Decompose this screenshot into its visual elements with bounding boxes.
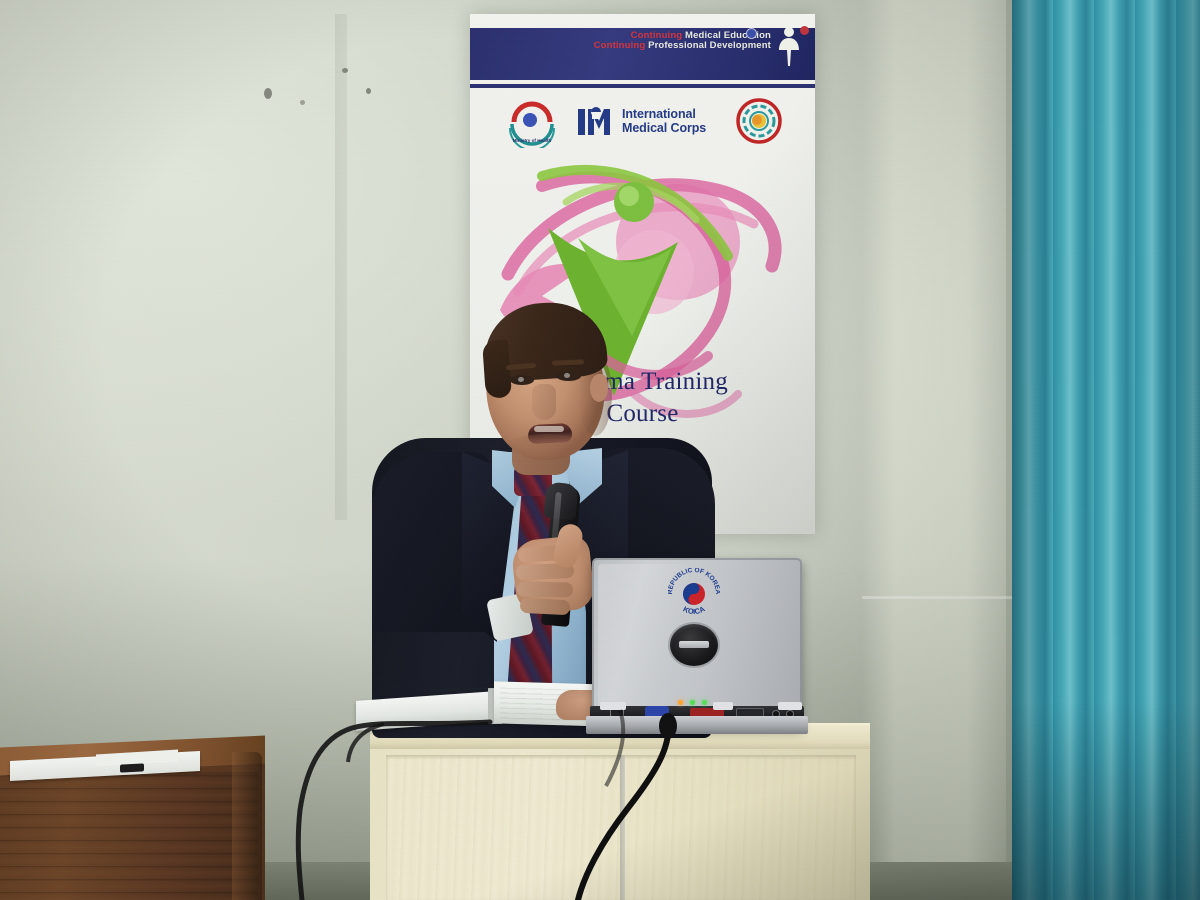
teeth bbox=[534, 426, 564, 432]
photo-scene: Continuing Medical Education Continuing … bbox=[0, 0, 1200, 900]
laptop-latch-bar bbox=[679, 641, 709, 648]
finger bbox=[520, 598, 571, 616]
black-power-cables bbox=[0, 690, 900, 900]
ear bbox=[590, 374, 608, 402]
finger bbox=[517, 582, 573, 598]
taegeuk-icon: REPUBLIC OF KOREA KOICA bbox=[668, 568, 720, 620]
nose bbox=[532, 384, 556, 420]
banner-right-edge bbox=[335, 14, 347, 520]
eye-highlight-right bbox=[564, 373, 570, 378]
svg-text:KOICA: KOICA bbox=[682, 604, 707, 616]
curtain-bottom-shading bbox=[1012, 700, 1200, 900]
eye-highlight-left bbox=[518, 377, 524, 382]
chin-shading bbox=[506, 434, 588, 460]
